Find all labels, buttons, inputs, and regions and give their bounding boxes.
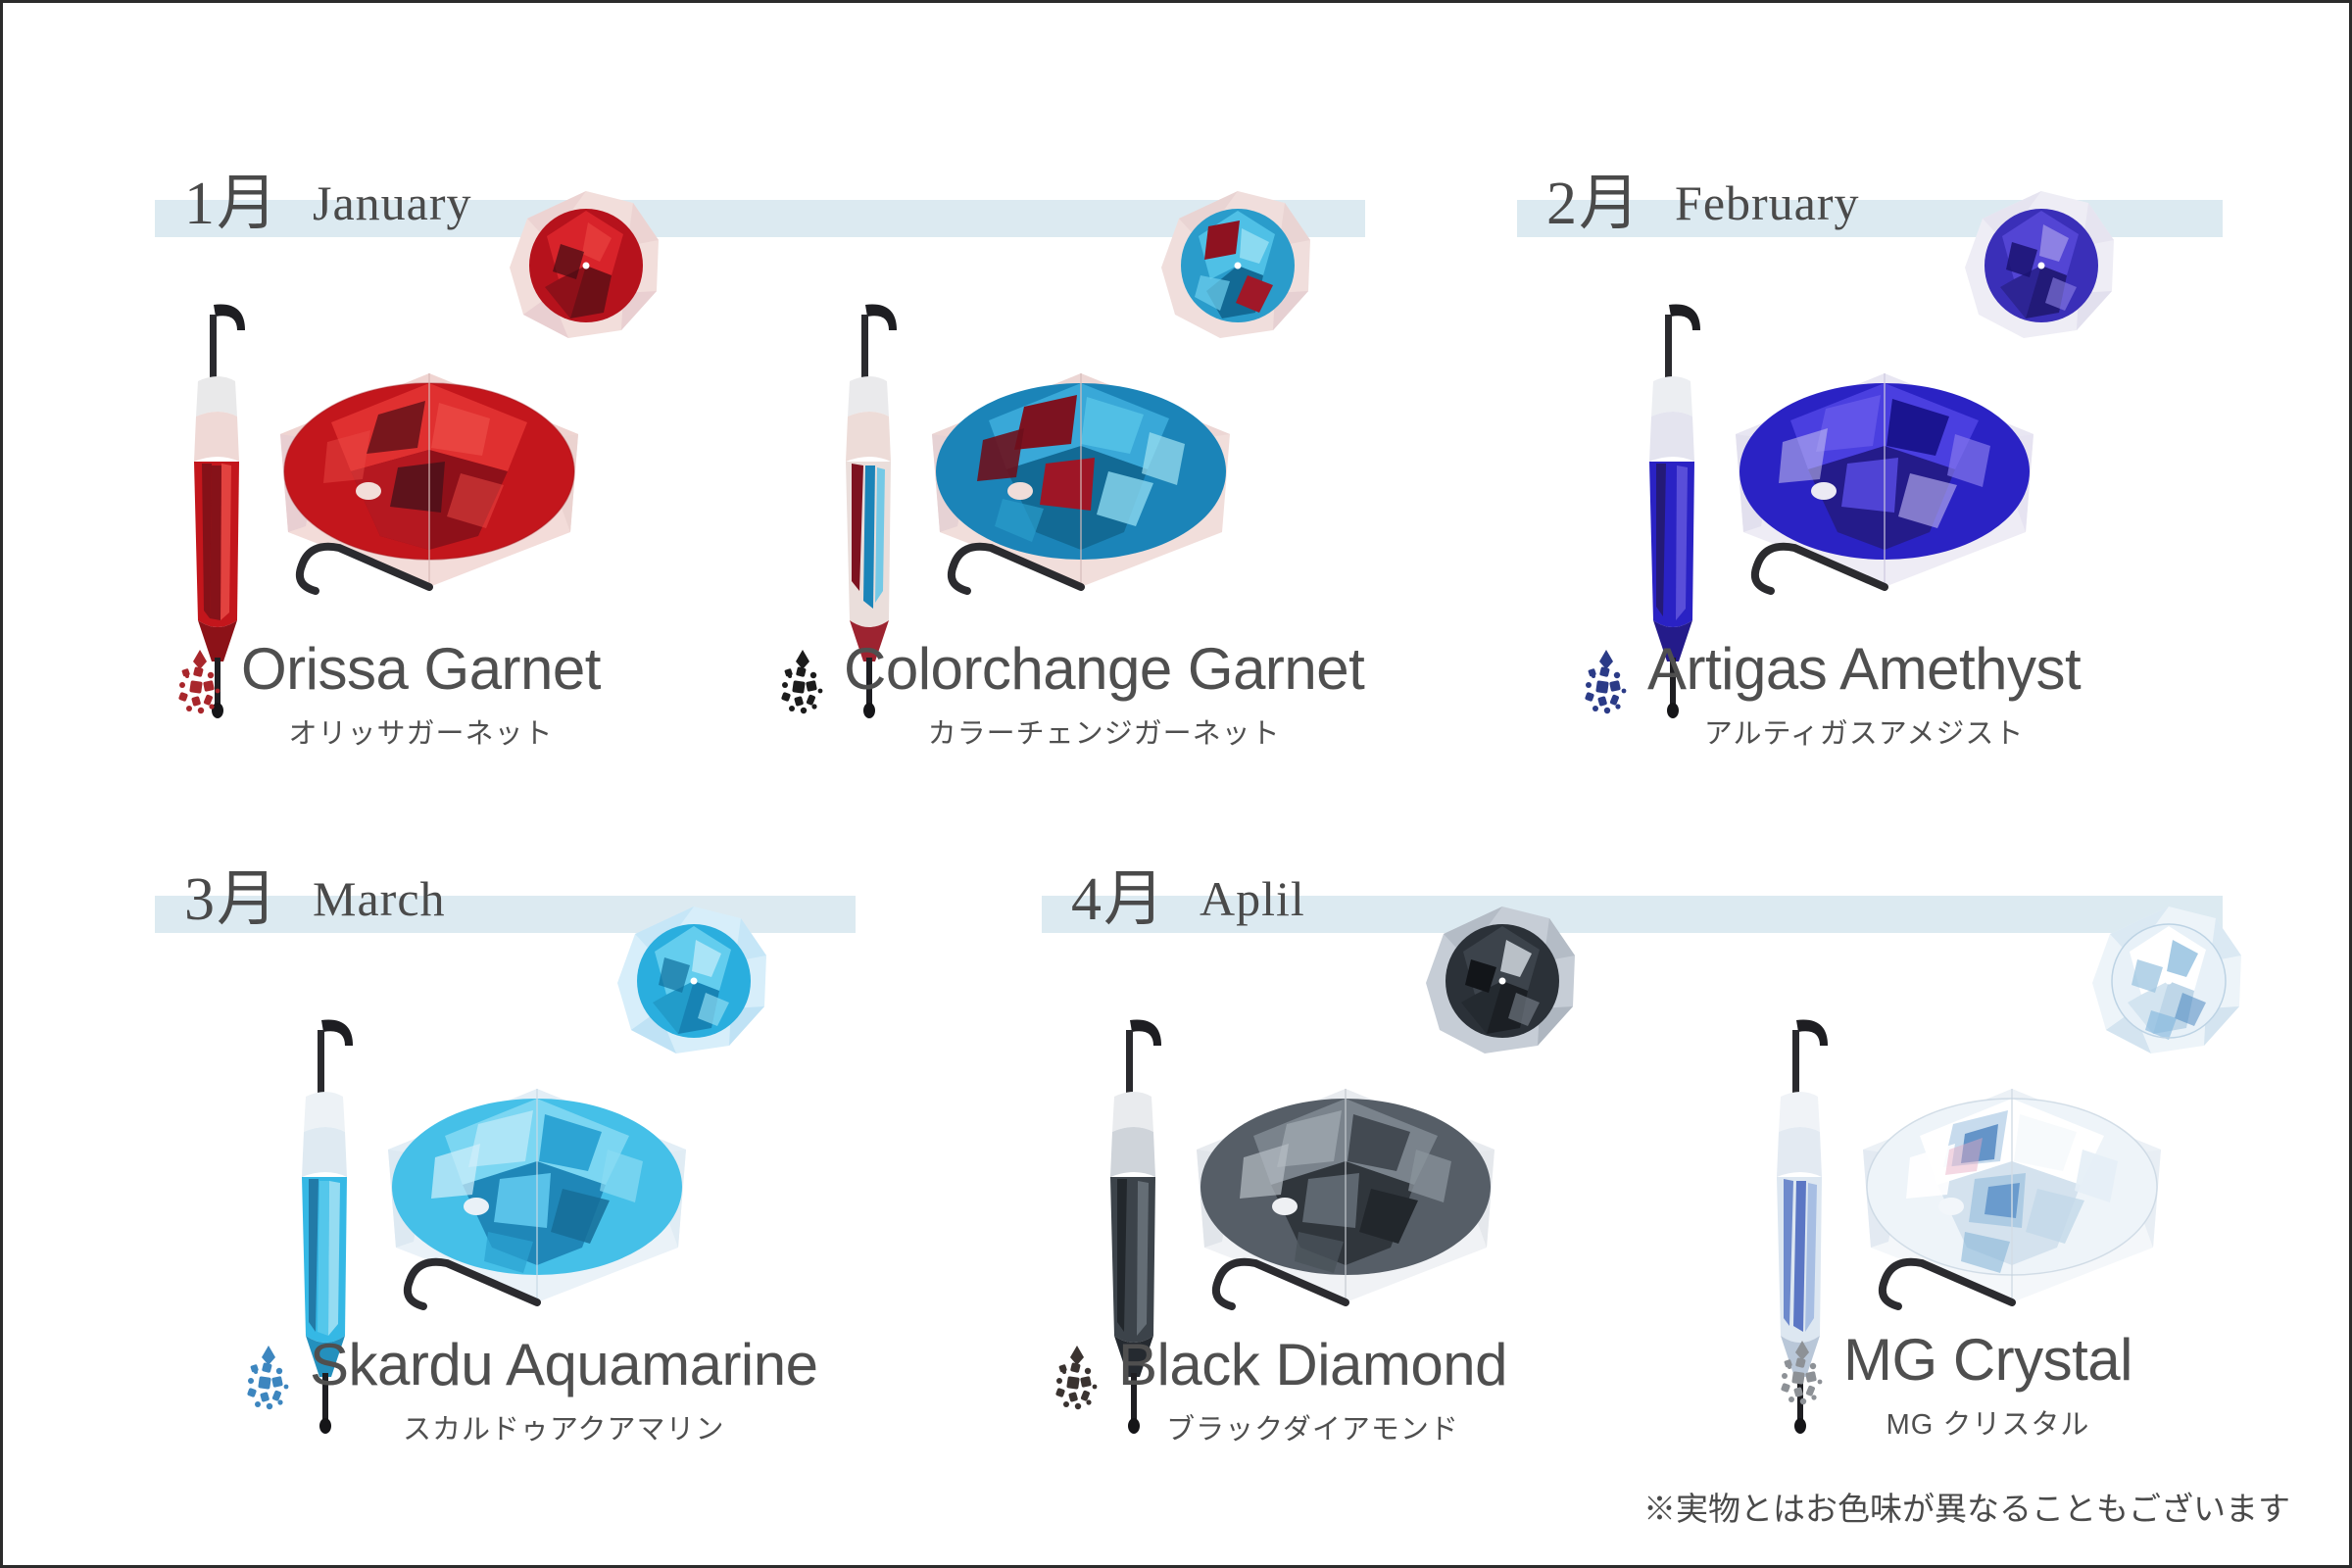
label-text: MG Crystal MG クリスタル (1843, 1331, 2132, 1443)
month-label-en: Aplil (1200, 871, 1305, 926)
product-label-colorchange-garnet: Colorchange Garnet カラーチェンジガーネット (777, 640, 1364, 752)
top-view-umbrella-image (498, 181, 674, 358)
product-name-en: Skardu Aquamarine (310, 1336, 818, 1395)
product-label-mg-crystal: MG Crystal MG クリスタル (1777, 1331, 2132, 1443)
month-label-en: March (313, 871, 446, 926)
month-label-jp: 2月 (1546, 171, 1641, 237)
product-colorchange-garnet[interactable] (826, 268, 1316, 640)
month-title: 2月February (1546, 153, 1860, 241)
product-name-jp: アルティガスアメジスト (1647, 710, 2081, 752)
open-umbrella-image (885, 324, 1277, 638)
product-name-jp: オリッサガーネット (241, 710, 601, 752)
month-label-en: February (1675, 175, 1860, 230)
open-umbrella-image (1689, 324, 2081, 638)
product-images (1757, 983, 2247, 1355)
product-images (826, 268, 1316, 640)
label-text: Skardu Aquamarine スカルドゥアクアマリン (310, 1336, 818, 1447)
label-text: Orissa Garnet オリッサガーネット (241, 640, 601, 752)
label-text: Colorchange Garnet カラーチェンジガーネット (844, 640, 1364, 752)
product-images (1091, 983, 1581, 1355)
product-skardu-aquamarine[interactable] (282, 983, 772, 1355)
black-diamond-drop-icon (1052, 1342, 1104, 1414)
amethyst-drop-icon (1581, 646, 1634, 718)
product-name-jp: ブラックダイアモンド (1118, 1406, 1507, 1447)
product-name-en: Black Diamond (1118, 1336, 1507, 1395)
product-label-artigas-amethyst: Artigas Amethyst アルティガスアメジスト (1581, 640, 2081, 752)
product-name-en: Colorchange Garnet (844, 640, 1364, 699)
colorchange-drop-icon (777, 646, 830, 718)
label-text: Artigas Amethyst アルティガスアメジスト (1647, 640, 2081, 752)
garnet-drop-icon (174, 646, 227, 718)
open-umbrella-image (1816, 1040, 2208, 1353)
product-name-jp: カラーチェンジガーネット (844, 710, 1364, 752)
product-black-diamond[interactable] (1091, 983, 1581, 1355)
product-name-en: Orissa Garnet (241, 640, 601, 699)
product-label-skardu-aquamarine: Skardu Aquamarine スカルドゥアクアマリン (243, 1336, 818, 1447)
label-text: Black Diamond ブラックダイアモンド (1118, 1336, 1507, 1447)
product-mg-crystal[interactable] (1757, 983, 2247, 1355)
open-umbrella-image (233, 324, 625, 638)
open-umbrella-image (1150, 1040, 1542, 1353)
top-view-umbrella-image (2081, 897, 2257, 1073)
top-view-umbrella-image (1150, 181, 1326, 358)
open-umbrella-image (341, 1040, 733, 1353)
month-header-april: 4月Aplil (1042, 870, 2223, 933)
product-name-en: Artigas Amethyst (1647, 640, 2081, 699)
month-title: 3月March (184, 849, 446, 937)
product-images (1630, 268, 2120, 640)
month-title: 4月Aplil (1071, 849, 1305, 937)
product-orissa-garnet[interactable] (174, 268, 664, 640)
product-artigas-amethyst[interactable] (1630, 268, 2120, 640)
product-name-jp: MG クリスタル (1843, 1401, 2132, 1443)
product-images (174, 268, 664, 640)
disclaimer-note: ※実物とはお色味が異なることもございます (1643, 1483, 2290, 1530)
top-view-umbrella-image (606, 897, 782, 1073)
product-label-orissa-garnet: Orissa Garnet オリッサガーネット (174, 640, 601, 752)
product-label-black-diamond: Black Diamond ブラックダイアモンド (1052, 1336, 1507, 1447)
month-label-jp: 4月 (1071, 866, 1166, 933)
month-label-en: January (313, 175, 472, 230)
top-view-umbrella-image (1953, 181, 2130, 358)
top-view-umbrella-image (1414, 897, 1591, 1073)
product-name-jp: スカルドゥアクアマリン (310, 1406, 818, 1447)
month-label-jp: 3月 (184, 866, 279, 933)
month-title: 1月January (184, 153, 472, 241)
product-name-en: MG Crystal (1843, 1331, 2132, 1390)
product-images (282, 983, 772, 1355)
month-label-jp: 1月 (184, 171, 279, 237)
crystal-drop-icon (1777, 1337, 1830, 1409)
catalog-page: 1月January 2月February 3月March 4月Aplil (0, 0, 2352, 1568)
aquamarine-drop-icon (243, 1342, 296, 1414)
